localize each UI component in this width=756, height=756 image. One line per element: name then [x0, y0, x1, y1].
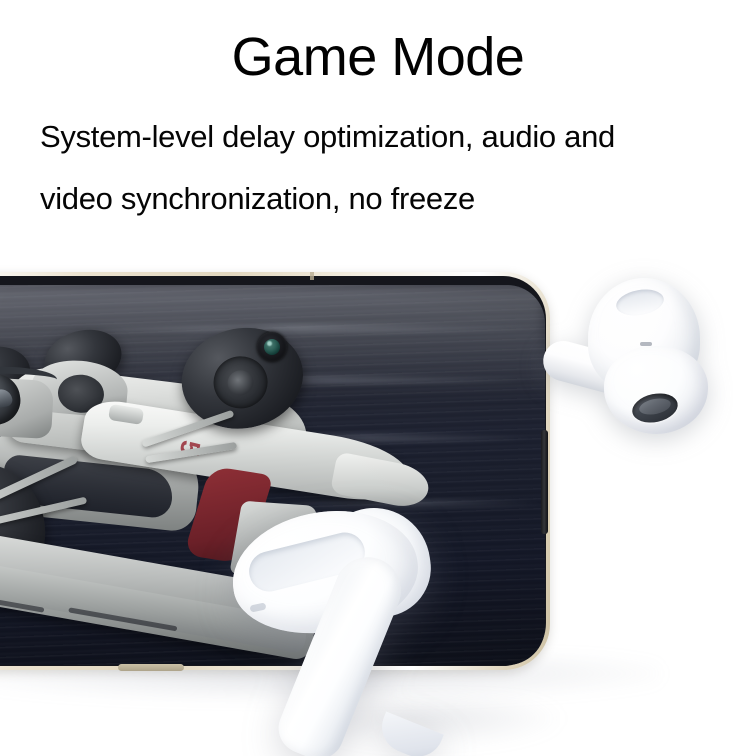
front-camera-icon [257, 332, 287, 362]
page-title: Game Mode [0, 26, 756, 88]
power-button[interactable] [541, 430, 548, 534]
earbud-foreground [226, 508, 526, 756]
camera-lens-glint [267, 341, 272, 346]
antenna-line-right [310, 272, 314, 280]
page-subtitle: System-level delay optimization, audio a… [0, 106, 756, 230]
car-nose-tip [330, 451, 432, 511]
product-banner: Game Mode System-level delay optimizatio… [0, 0, 756, 756]
marketing-text-block: Game Mode System-level delay optimizatio… [0, 0, 756, 230]
phone-bottom-port [118, 664, 184, 671]
earbud-top-right [566, 276, 736, 446]
subtitle-line-2: video synchronization, no freeze [40, 168, 736, 230]
subtitle-line-1: System-level delay optimization, audio a… [40, 106, 736, 168]
earbud-stem-tip [374, 712, 443, 756]
